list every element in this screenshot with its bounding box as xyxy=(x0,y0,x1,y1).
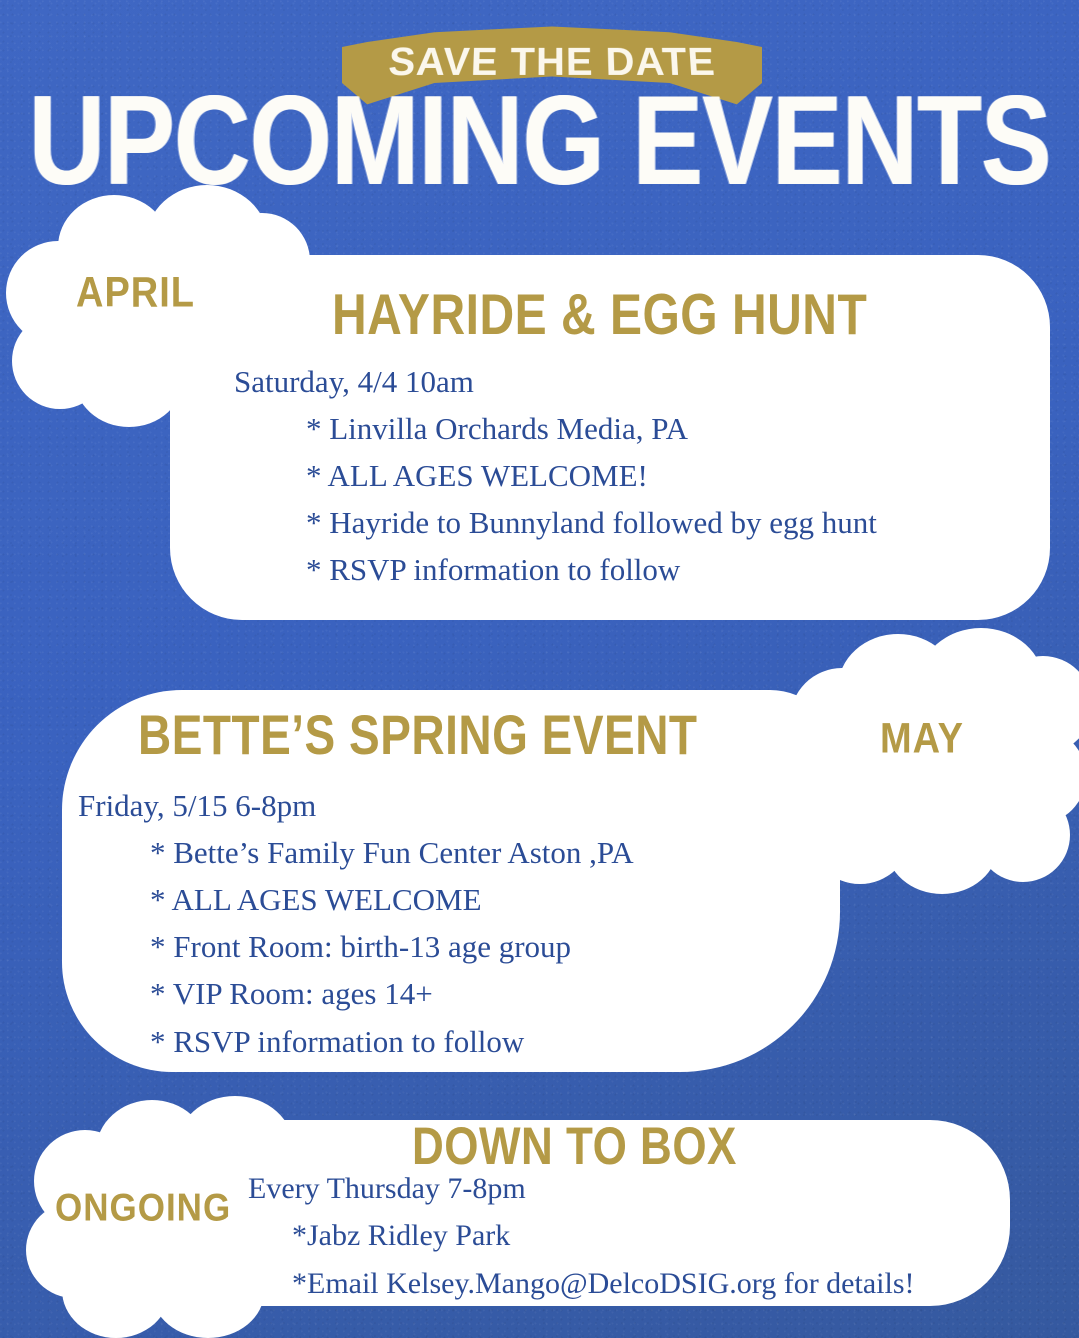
event-bullet: * RSVP information to follow xyxy=(234,546,877,593)
event-datetime: Friday, 5/15 6-8pm xyxy=(78,782,634,829)
event-datetime: Saturday, 4/4 10am xyxy=(234,358,877,405)
event-datetime: Every Thursday 7-8pm xyxy=(248,1165,915,1212)
event-bullet: * ALL AGES WELCOME! xyxy=(234,452,877,499)
event-details-may: Friday, 5/15 6-8pm * Bette’s Family Fun … xyxy=(78,782,634,1065)
month-badge-may: MAY xyxy=(880,715,964,763)
event-details-april: Saturday, 4/4 10am * Linvilla Orchards M… xyxy=(234,358,877,594)
month-badge-april: APRIL xyxy=(76,269,195,317)
event-bullet: *Email Kelsey.Mango@DelcoDSIG.org for de… xyxy=(248,1260,915,1307)
event-bullet: *Jabz Ridley Park xyxy=(248,1212,915,1259)
event-bullet: * Front Room: birth-13 age group xyxy=(78,923,634,970)
month-badge-ongoing: ONGOING xyxy=(55,1186,231,1231)
event-bullet: * RSVP information to follow xyxy=(78,1018,634,1065)
event-bullet: * Linvilla Orchards Media, PA xyxy=(234,405,877,452)
event-bullet: * ALL AGES WELCOME xyxy=(78,876,634,923)
event-bullet: * Bette’s Family Fun Center Aston ,PA xyxy=(78,829,634,876)
event-flyer-poster: SAVE THE DATE UPCOMING EVENTS APRIL HAYR… xyxy=(0,0,1079,1338)
event-details-ongoing: Every Thursday 7-8pm *Jabz Ridley Park *… xyxy=(248,1165,915,1307)
event-title-may: BETTE’S SPRING EVENT xyxy=(138,703,698,768)
event-title-april: HAYRIDE & EGG HUNT xyxy=(332,283,867,349)
event-bullet: * VIP Room: ages 14+ xyxy=(78,970,634,1017)
event-bullet: * Hayride to Bunnyland followed by egg h… xyxy=(234,499,877,546)
